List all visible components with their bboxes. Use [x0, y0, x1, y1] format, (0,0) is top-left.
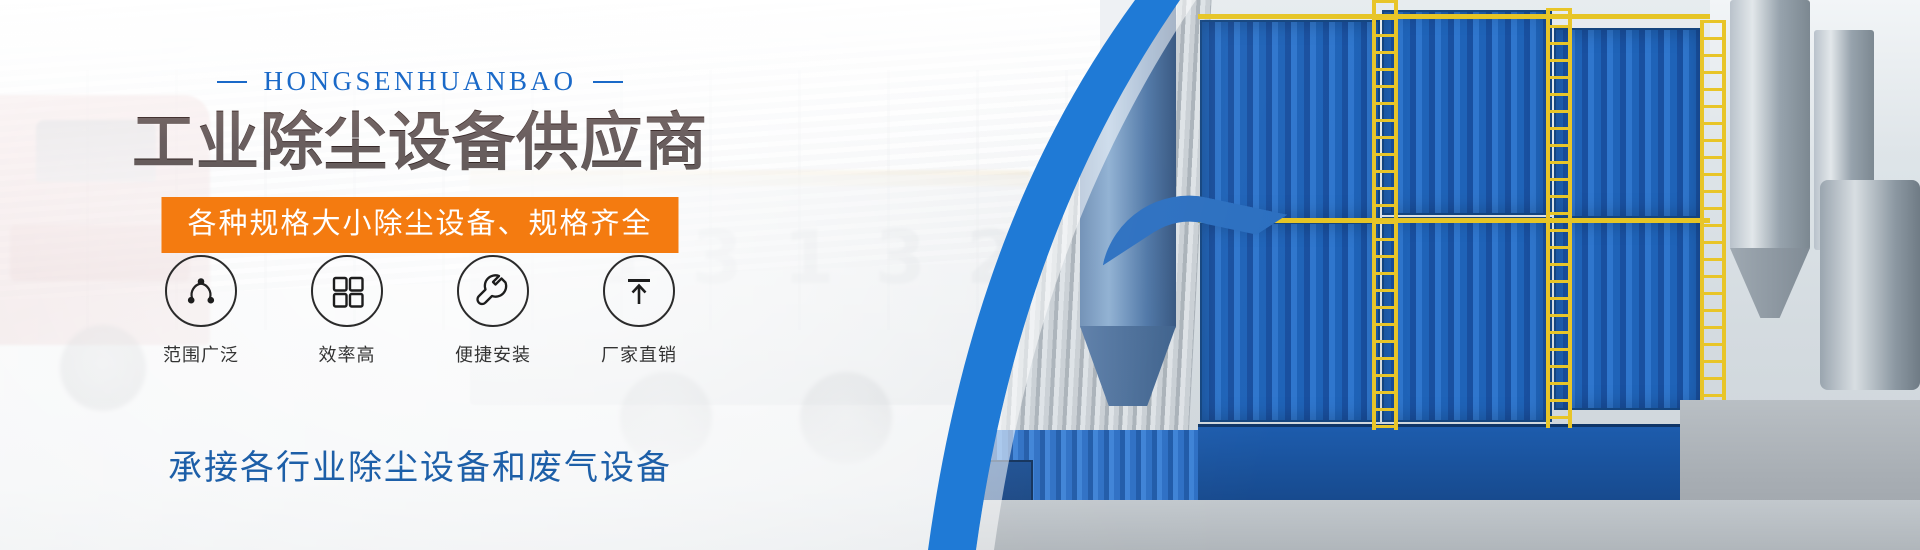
network-share-icon: [181, 271, 221, 311]
feature-item-wide-range[interactable]: 范围广泛: [161, 255, 241, 367]
grid-squares-icon: [328, 272, 366, 310]
feature-list: 范围广泛 效率高: [0, 255, 840, 367]
feature-item-high-efficiency[interactable]: 效率高: [307, 255, 387, 367]
arrow-up-bar-icon: [619, 271, 659, 311]
brand-eyebrow-text: HONGSENHUANBAO: [263, 66, 576, 97]
feature-item-easy-install[interactable]: 便捷安装: [453, 255, 533, 367]
brand-eyebrow: HONGSENHUANBAO: [0, 66, 840, 97]
hero-banner: 13132709: [0, 0, 1920, 550]
feature-label: 效率高: [307, 341, 387, 367]
feature-icon-circle: [311, 255, 383, 327]
feature-icon-circle: [457, 255, 529, 327]
feature-label: 便捷安装: [453, 341, 533, 367]
wrench-tool-icon: [473, 271, 513, 311]
feature-item-factory-direct[interactable]: 厂家直销: [599, 255, 679, 367]
dash-right-icon: [593, 81, 623, 83]
banner-tagline: 承接各行业除尘设备和废气设备: [0, 440, 840, 489]
subtitle-highlight-bar: 各种规格大小除尘设备、规格齐全: [161, 197, 678, 253]
feature-icon-circle: [603, 255, 675, 327]
dash-left-icon: [217, 81, 247, 83]
feature-icon-circle: [165, 255, 237, 327]
page-title: 工业除尘设备供应商: [0, 106, 840, 180]
banner-content: HONGSENHUANBAO 工业除尘设备供应商 各种规格大小除尘设备、规格齐全…: [0, 0, 840, 550]
feature-label: 范围广泛: [161, 341, 241, 367]
feature-label: 厂家直销: [599, 341, 679, 367]
